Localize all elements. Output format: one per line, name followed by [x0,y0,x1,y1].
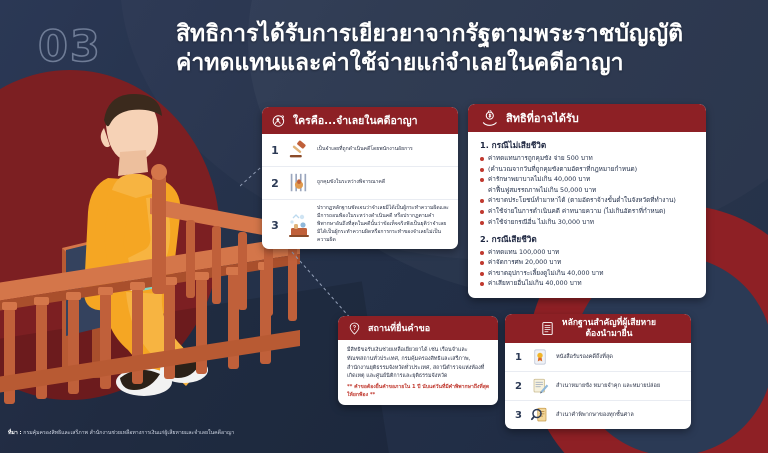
rights-bullet-text: ค่าใช้จ่ายกรณีอื่น ไม่เกิน 30,000 บาท [488,218,594,227]
rights-bullet-text: (คำนวณจากวันที่ถูกคุมขังตามอัตราที่กฎหมา… [488,165,637,174]
bullet-dot [480,261,484,265]
rights-bullet: ค่าฟื้นฟูสมรรถภาพไม่เกิน 50,000 บาท [480,186,696,195]
section-number-badge: 03 [38,22,102,72]
document-icon [540,321,555,336]
list-item-text: สำเนาคำพิพากษาของทุกชั้นศาล [556,411,634,419]
rights-bullet-text: ค่าใช้จ่ายในการดำเนินคดี ค่าทนายความ (ไม… [488,207,666,216]
rights-bullet: ค่าขาดประโยชน์ทำมาหาได้ (ตามอัตราจ้างขั้… [480,196,696,205]
hand-money-icon [482,110,499,127]
rights-bullet-text: ค่าขาดอุปการะเลี้ยงดูไม่เกิน 40,000 บาท [488,269,603,278]
bullet-dot [480,282,484,286]
list-item: 1 เป็นจำเลยที่ถูกดำเนินคดีโดยพนักงานอัยก… [262,134,458,167]
magnifier-document-icon [531,406,549,424]
rights-bullet: ค่าเสียหายอื่นไม่เกิน 40,000 บาท [480,279,696,288]
bullet-dot [480,178,484,182]
rights-bullet: ค่าใช้จ่ายกรณีอื่น ไม่เกิน 30,000 บาท [480,218,696,227]
person-question-icon [272,114,286,128]
rights-bullet: ค่าขาดอุปการะเลี้ยงดูไม่เกิน 40,000 บาท [480,269,696,278]
list-item-number: 2 [513,381,524,392]
list-item: 1 หนังสือรับรองคดีถึงที่สุด [505,343,691,372]
rights-bullet: ค่ารักษาพยาบาลไม่เกิน 40,000 บาท [480,175,696,184]
defendant-in-dock-illustration [0,78,300,423]
evidence-scale-icon [287,211,311,241]
card-required-evidence: หลักฐานสำคัญที่ผู้เสียหาย ต้องนำมายื่น 1… [505,314,691,429]
list-item-text: ปรากฏหลักฐานชัดเจนว่าจำเลยมิได้เป็นผู้กร… [317,205,450,244]
card-evidence-body: 1 หนังสือรับรองคดีถึงที่สุด 2 สำเนาหมายข… [505,343,691,429]
card-where-title: สถานที่ยื่นคำขอ [368,321,430,335]
source-text: กรมคุ้มครองสิทธิและเสรีภาพ สำนักงานช่วยเ… [23,430,234,436]
rights-bullet-text: ค่าขาดประโยชน์ทำมาหาได้ (ตามอัตราจ้างขั้… [488,196,676,205]
card-rights-title: สิทธิที่อาจได้รับ [506,109,579,127]
card-evidence-title: หลักฐานสำคัญที่ผู้เสียหาย ต้องนำมายื่น [562,318,656,339]
rights-bullet-text: ค่าทดแทนการถูกคุมขัง จ่าย 500 บาท [488,154,593,163]
card-where-header: สถานที่ยื่นคำขอ [338,316,498,340]
rights-group-heading: 1. กรณีไม่เสียชีวิต [480,139,696,152]
question-pin-icon [348,322,361,335]
bullet-dot [480,189,484,193]
list-item: 2 สำเนาหมายขัง หมายจำคุก และหมายปล่อย [505,372,691,401]
source-label: ที่มา : [8,430,22,436]
card-evidence-header: หลักฐานสำคัญที่ผู้เสียหาย ต้องนำมายื่น [505,314,691,343]
list-item-text: เป็นจำเลยที่ถูกดำเนินคดีโดยพนักงานอัยการ [317,146,413,154]
list-item-text: ถูกคุมขังในระหว่างพิจารณาคดี [317,179,385,187]
gavel-icon [287,139,311,161]
rights-bullet-text: ค่าจัดการศพ 20,000 บาท [488,258,561,267]
card-possible-rights: สิทธิที่อาจได้รับ 1. กรณีไม่เสียชีวิต ค่… [468,104,706,298]
rights-bullet: ค่าทดแทนการถูกคุมขัง จ่าย 500 บาท [480,154,696,163]
list-item-number: 1 [513,352,524,363]
card-where-to-file: สถานที่ยื่นคำขอ มีสิทธิขอรับเงินช่วยเหลื… [338,316,498,405]
card-who-is-defendant: ใครคือ...จำเลยในคดีอาญา 1 เป็นจำเลยที่ถู… [262,107,458,249]
card-where-text: มีสิทธิขอรับเงินช่วยเหลือเยียวยาได้ เช่น… [347,346,490,381]
bullet-dot [480,168,484,172]
bullet-dot [480,272,484,276]
warrant-icon [531,377,549,395]
list-item-number: 3 [513,410,524,421]
card-who-title: ใครคือ...จำเลยในคดีอาญา [293,112,418,129]
list-item: 3 สำเนาคำพิพากษาของทุกชั้นศาล [505,401,691,429]
rights-bullet-text: ค่าทดแทน 100,000 บาท [488,248,559,257]
infographic-canvas: 03 สิทธิการได้รับการเยียวยาจากรัฐตามพระร… [0,0,768,453]
card-who-body: 1 เป็นจำเลยที่ถูกดำเนินคดีโดยพนักงานอัยก… [262,134,458,249]
card-where-note: ** คำขอต้องยื่นคำขอภายใน 1 ปี นับแต่วันท… [347,384,490,399]
card-evidence-title-line2: ต้องนำมายื่น [562,329,656,340]
rights-group-heading: 2. กรณีเสียชีวิต [480,233,696,246]
rights-bullet: ค่าใช้จ่ายในการดำเนินคดี ค่าทนายความ (ไม… [480,207,696,216]
card-rights-body: 1. กรณีไม่เสียชีวิต ค่าทดแทนการถูกคุมขัง… [468,132,706,298]
page-title-line1: สิทธิการได้รับการเยียวยาจากรัฐตามพระราชบ… [176,21,683,47]
bullet-dot [480,157,484,161]
page-title-line2: ค่าทดแทนและค่าใช้จ่ายแก่จำเลยในคดีอาญา [176,49,756,78]
card-who-header: ใครคือ...จำเลยในคดีอาญา [262,107,458,134]
rights-bullet-text: ค่าเสียหายอื่นไม่เกิน 40,000 บาท [488,279,582,288]
bullet-dot [480,221,484,225]
source-note: ที่มา : กรมคุ้มครองสิทธิและเสรีภาพ สำนัก… [8,429,258,437]
card-rights-header: สิทธิที่อาจได้รับ [468,104,706,132]
list-item: 2 ถูกคุมขังในระหว่างพิจารณาคดี [262,167,458,200]
rights-bullet-text: ค่ารักษาพยาบาลไม่เกิน 40,000 บาท [488,175,590,184]
certificate-icon [531,348,549,366]
bullet-dot [480,199,484,203]
rights-bullet: ค่าทดแทน 100,000 บาท [480,248,696,257]
list-item-number: 3 [269,219,281,232]
bullet-dot [480,210,484,214]
list-item-text: หนังสือรับรองคดีถึงที่สุด [556,353,613,361]
list-item: 3 ปรากฏหลักฐานชัดเจนว่าจำเลยมิได้เป็นผู้… [262,200,458,249]
list-item-number: 1 [269,144,281,157]
card-where-body: มีสิทธิขอรับเงินช่วยเหลือเยียวยาได้ เช่น… [338,340,498,405]
list-item-text: สำเนาหมายขัง หมายจำคุก และหมายปล่อย [556,382,660,390]
rights-bullet-text: ค่าฟื้นฟูสมรรถภาพไม่เกิน 50,000 บาท [488,186,596,195]
list-item-number: 2 [269,177,281,190]
rights-bullet: (คำนวณจากวันที่ถูกคุมขังตามอัตราที่กฎหมา… [480,165,696,174]
jail-bars-icon [287,172,311,194]
page-title: สิทธิการได้รับการเยียวยาจากรัฐตามพระราชบ… [176,20,756,79]
bullet-dot [480,251,484,255]
rights-bullet: ค่าจัดการศพ 20,000 บาท [480,258,696,267]
card-evidence-title-line1: หลักฐานสำคัญที่ผู้เสียหาย [562,318,656,329]
